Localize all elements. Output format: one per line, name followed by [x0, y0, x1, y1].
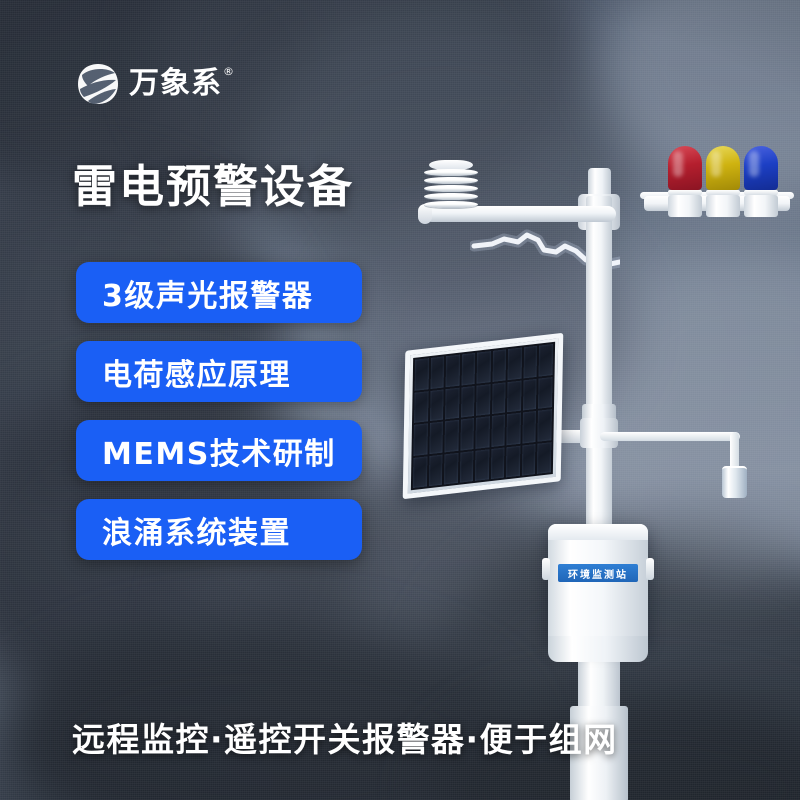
solar-cell [491, 414, 505, 446]
solar-cell [523, 346, 537, 378]
solar-cell [430, 356, 444, 388]
solar-cell [522, 443, 536, 475]
solar-cell [476, 416, 490, 448]
solar-cell [477, 351, 491, 383]
solar-cell [506, 445, 520, 477]
blue-alarm-lamp [744, 146, 778, 217]
control-box-lid [548, 524, 648, 540]
swirl-leaf-logo-icon [76, 62, 120, 106]
sensor-cylinder [722, 466, 747, 498]
red-alarm-lamp [668, 146, 702, 217]
shield-plate [424, 177, 478, 184]
lamp-base [668, 195, 702, 217]
solar-cell [475, 449, 489, 481]
feature-pill: 电荷感应原理 [76, 341, 362, 402]
right-sensor-arm [600, 432, 740, 441]
lamp-base [706, 195, 740, 217]
solar-cell [446, 355, 460, 387]
solar-cell-grid [411, 342, 555, 490]
control-box: 环境监测站 [548, 524, 648, 644]
brand-name-text: 万象系 [129, 66, 222, 101]
solar-cell [539, 344, 553, 376]
solar-cell [461, 353, 475, 385]
control-box-ear [646, 558, 654, 580]
solar-cell [538, 409, 552, 441]
solar-cell [460, 451, 474, 483]
footer-tagline: 远程监控·遥控开关报警器·便于组网 [72, 713, 618, 761]
control-box-bottom [548, 636, 648, 662]
solar-cell [492, 382, 506, 414]
shield-plate [424, 201, 478, 208]
solar-cell [414, 391, 428, 423]
solar-panel [403, 333, 564, 499]
brand-logo: 万象系 ® [76, 62, 222, 106]
brand-name: 万象系 ® [129, 69, 222, 99]
shield-plate [424, 185, 478, 192]
lamp-dome [744, 146, 778, 190]
lamp-dome [668, 146, 702, 190]
solar-cell [523, 378, 537, 410]
shield-plate [424, 169, 478, 176]
solar-cell [428, 454, 442, 486]
solar-cell [461, 385, 475, 417]
radiation-shield-sensor [424, 160, 478, 212]
control-box-label: 环境监测站 [558, 564, 638, 582]
promo-banner: 环境监测站 万象系 ® 雷电预警设备 3级声光报警器 电荷感应原理 MEMS技术… [0, 0, 800, 800]
feature-pill-list: 3级声光报警器 电荷感应原理 MEMS技术研制 浪涌系统装置 [76, 262, 362, 560]
lamp-base [744, 195, 778, 217]
feature-pill: 3级声光报警器 [76, 262, 362, 323]
lamp-dome [706, 146, 740, 190]
solar-cell [429, 422, 443, 454]
solar-cell [430, 389, 444, 421]
feature-pill: 浪涌系统装置 [76, 499, 362, 560]
shield-plate [424, 193, 478, 200]
solar-cell [508, 348, 522, 380]
page-title: 雷电预警设备 [72, 164, 354, 209]
registered-mark: ® [223, 66, 235, 77]
solar-cell [444, 452, 458, 484]
solar-cell [445, 420, 459, 452]
solar-cell [445, 387, 459, 419]
solar-cell [522, 411, 536, 443]
control-box-ear [542, 558, 550, 580]
feature-pill: MEMS技术研制 [76, 420, 362, 481]
solar-cell [537, 442, 551, 474]
solar-cell [538, 377, 552, 409]
yellow-alarm-lamp [706, 146, 740, 217]
solar-cell [413, 456, 427, 488]
solar-cell [460, 418, 474, 450]
solar-cell [492, 349, 506, 381]
solar-cell [415, 358, 429, 390]
solar-cell [507, 380, 521, 412]
solar-cell [476, 384, 490, 416]
solar-cell [413, 423, 427, 455]
solar-cell [491, 447, 505, 479]
solar-cell [507, 413, 521, 445]
